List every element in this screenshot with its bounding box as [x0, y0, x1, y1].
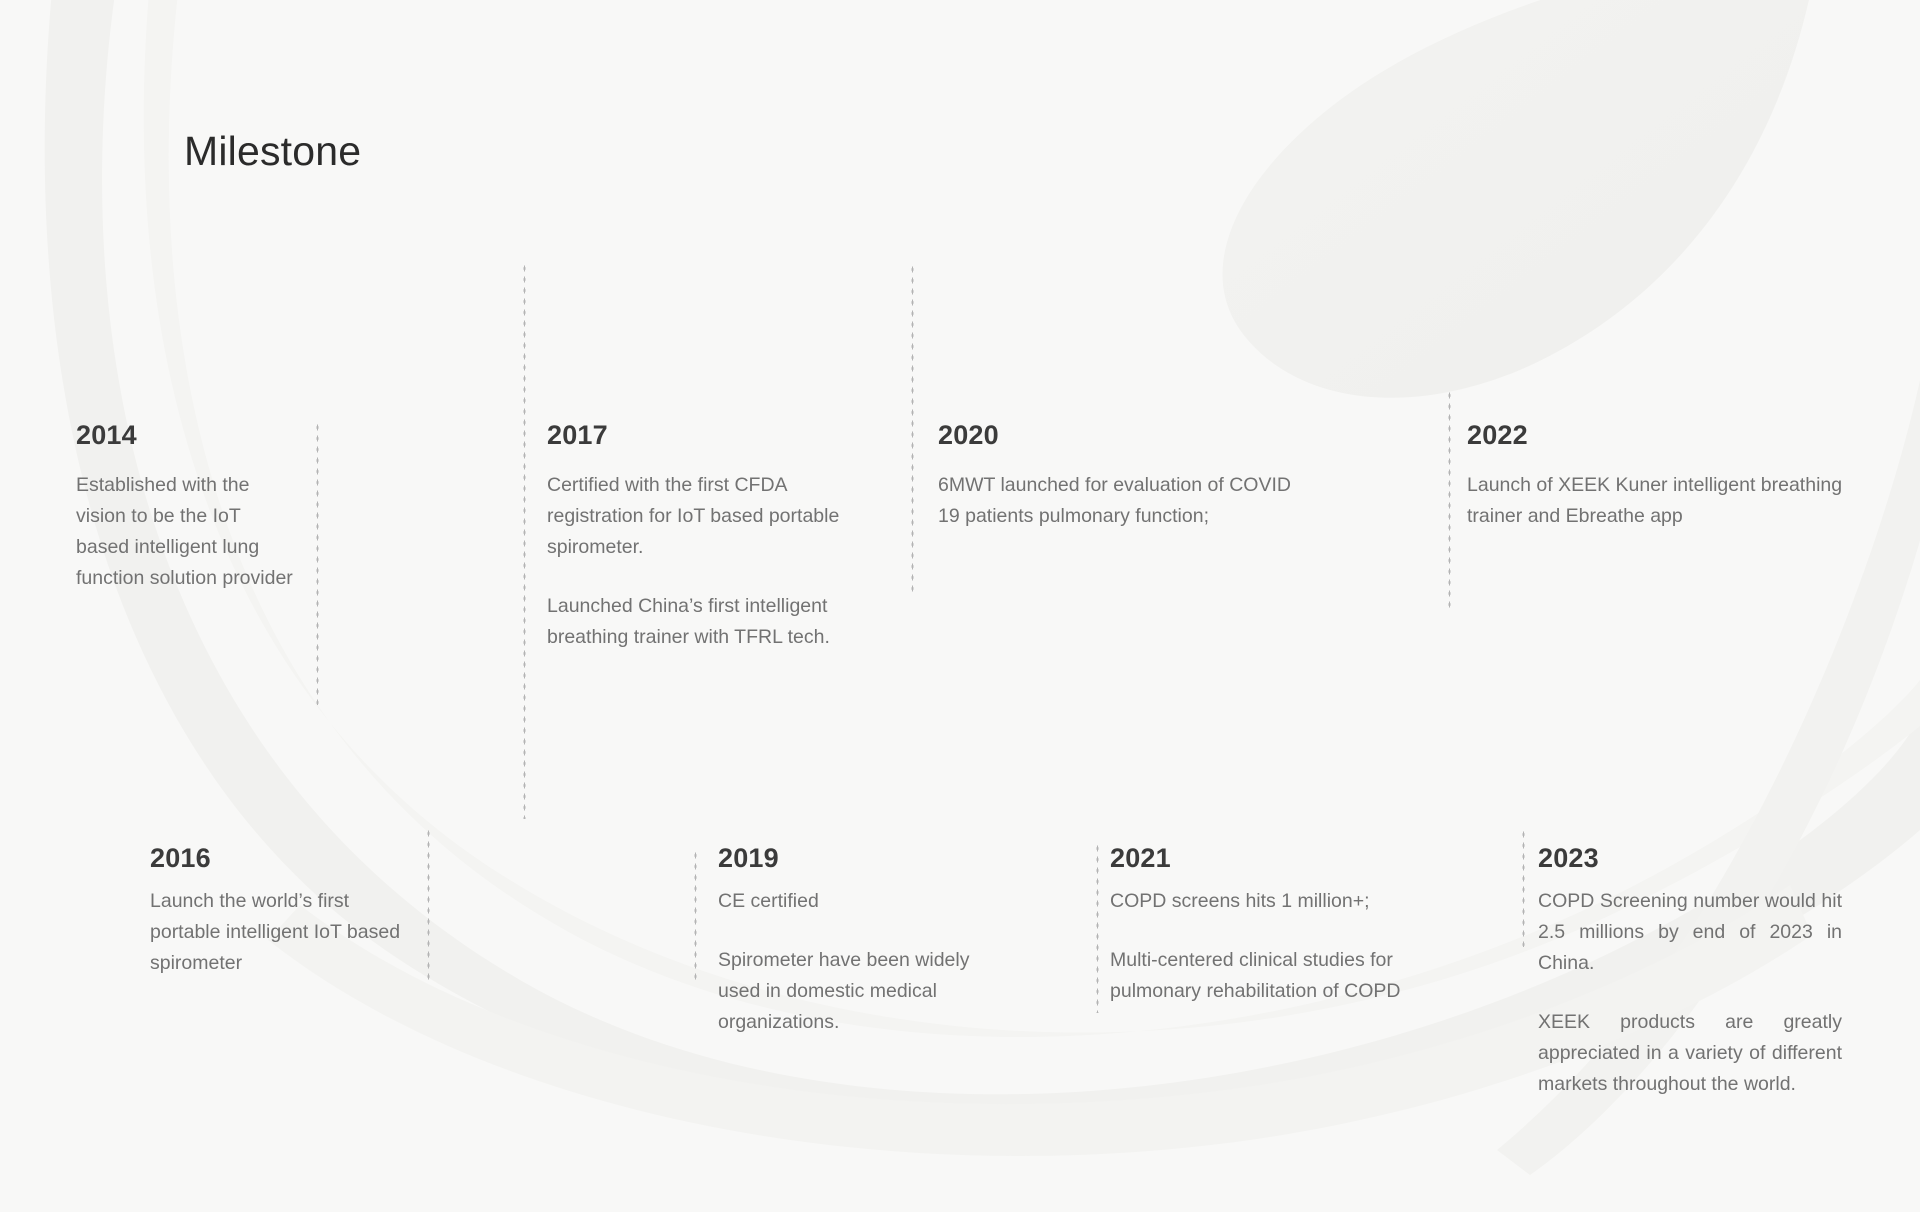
milestone-paragraph: Launch the world’s first portable intell… — [150, 886, 420, 979]
dotted-line-2022 — [1448, 390, 1451, 611]
milestone-year: 2023 — [1538, 845, 1842, 872]
milestone-paragraph: Spirometer have been widely used in dome… — [718, 945, 1008, 1038]
dotted-line-2017 — [523, 263, 526, 819]
dotted-line-2019 — [694, 850, 697, 980]
milestone-paragraph: CE certified — [718, 886, 1008, 917]
milestone-year: 2021 — [1110, 845, 1410, 872]
dotted-line-2023 — [1522, 829, 1525, 947]
milestone-year: 2014 — [76, 422, 298, 449]
milestone-year: 2017 — [547, 422, 852, 449]
milestone-year: 2019 — [718, 845, 1008, 872]
milestone-paragraph: Launched China’s first intelligent breat… — [547, 591, 852, 653]
milestone-entry-2022[interactable]: 2022 Launch of XEEK Kuner intelligent br… — [1467, 422, 1857, 532]
milestone-paragraph: Multi-centered clinical studies for pulm… — [1110, 945, 1410, 1007]
milestone-entry-2014[interactable]: 2014 Established with the vision to be t… — [76, 422, 298, 594]
milestone-paragraph: COPD Screening number would hit 2.5 mill… — [1538, 886, 1842, 979]
milestone-year: 2016 — [150, 845, 420, 872]
milestone-paragraph: COPD screens hits 1 million+; — [1110, 886, 1410, 917]
dotted-line-2020 — [911, 264, 914, 592]
milestone-paragraph: 6MWT launched for evaluation of COVID 19… — [938, 470, 1310, 532]
milestone-entry-2019[interactable]: 2019 CE certified Spirometer have been w… — [718, 845, 1008, 1038]
milestone-year: 2020 — [938, 422, 1310, 449]
dotted-line-2021 — [1096, 843, 1099, 1013]
milestone-paragraph: Established with the vision to be the Io… — [76, 470, 298, 594]
milestone-entry-2017[interactable]: 2017 Certified with the first CFDA regis… — [547, 422, 852, 653]
page-title: Milestone — [184, 131, 361, 172]
milestone-paragraph: Certified with the first CFDA registrati… — [547, 470, 852, 563]
milestone-year: 2022 — [1467, 422, 1857, 449]
dotted-line-2016 — [427, 828, 430, 981]
milestone-paragraph: Launch of XEEK Kuner intelligent breathi… — [1467, 470, 1857, 532]
milestone-entry-2023[interactable]: 2023 COPD Screening number would hit 2.5… — [1538, 845, 1842, 1100]
milestone-paragraph: XEEK products are greatly appreciated in… — [1538, 1007, 1842, 1100]
milestone-entry-2020[interactable]: 2020 6MWT launched for evaluation of COV… — [938, 422, 1310, 532]
dotted-line-2014 — [316, 422, 319, 705]
milestone-entry-2016[interactable]: 2016 Launch the world’s first portable i… — [150, 845, 420, 979]
milestone-entry-2021[interactable]: 2021 COPD screens hits 1 million+; Multi… — [1110, 845, 1410, 1007]
